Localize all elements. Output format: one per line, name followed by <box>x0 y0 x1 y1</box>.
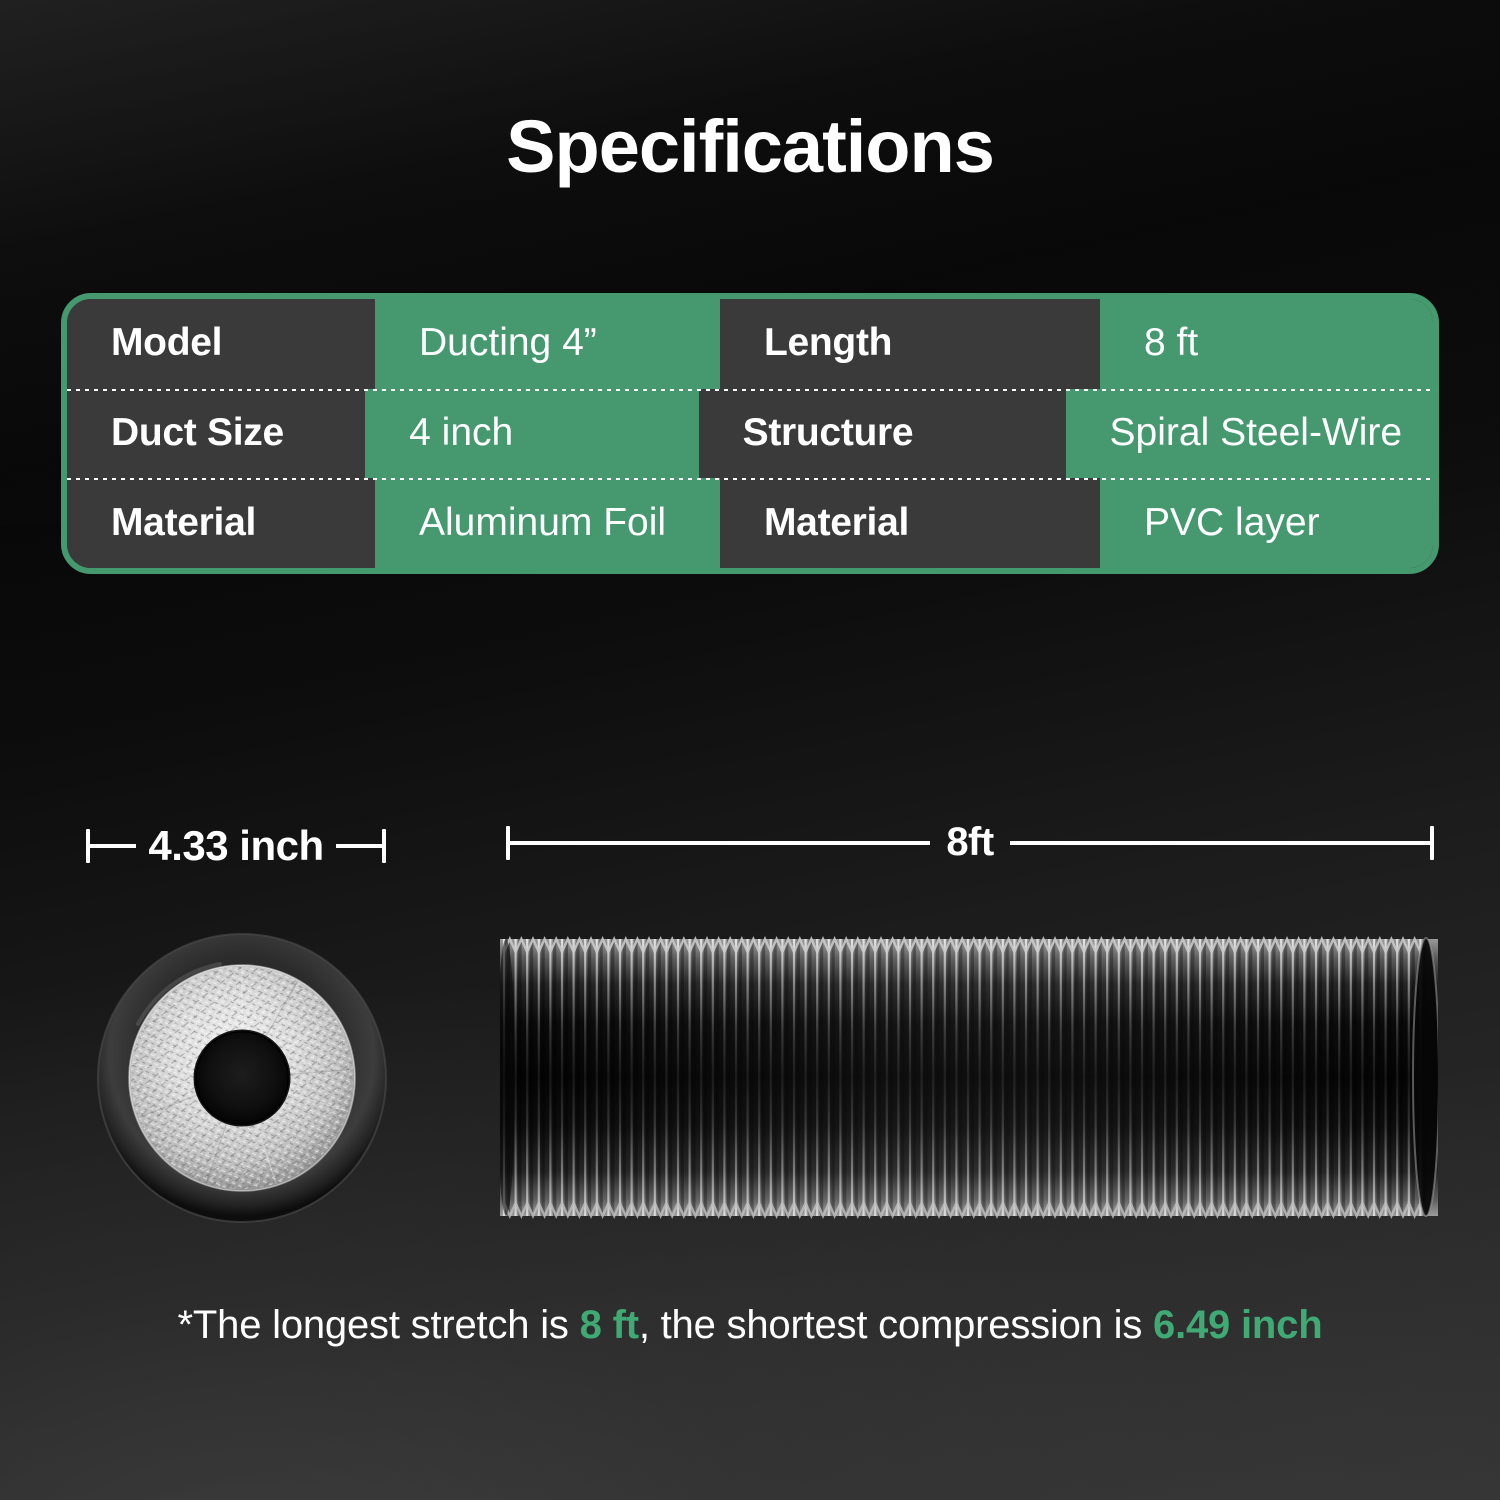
duct-cross-section-image <box>92 928 392 1228</box>
footnote-part1: *The longest stretch is <box>178 1303 580 1347</box>
length-label: 8ft <box>930 820 1009 865</box>
spec-key-length: Length <box>720 299 1100 389</box>
diameter-label: 4.33 inch <box>136 822 335 870</box>
footnote: *The longest stretch is 8 ft, the shorte… <box>0 1303 1500 1348</box>
spec-value-material-foil: Aluminum Foil <box>375 478 720 568</box>
footnote-highlight-compression: 6.49 inch <box>1153 1303 1322 1347</box>
dimension-bar-icon <box>1010 841 1430 845</box>
specifications-table: Model Ducting 4” Length 8 ft Duct Size 4… <box>61 293 1439 574</box>
spec-key-model: Model <box>67 299 375 389</box>
duct-cross-section-icon <box>92 928 392 1228</box>
dimension-end-cap-icon <box>1430 826 1434 860</box>
page-title: Specifications <box>0 104 1500 189</box>
dimension-bar-icon <box>336 844 382 848</box>
dimension-bar-icon <box>90 844 136 848</box>
diameter-dimension-line: 4.33 inch <box>86 822 386 870</box>
table-row: Model Ducting 4” Length 8 ft <box>67 299 1433 389</box>
length-dimension-line: 8ft <box>506 820 1434 865</box>
product-spec-page: Specifications Model Ducting 4” Length 8… <box>0 0 1500 1500</box>
spec-key-structure: Structure <box>699 389 1066 479</box>
spec-value-model: Ducting 4” <box>375 299 720 389</box>
spec-value-duct-size: 4 inch <box>365 389 698 479</box>
spec-key-material-pvc: Material <box>720 478 1100 568</box>
dimension-bar-icon <box>510 841 930 845</box>
spec-key-duct-size: Duct Size <box>67 389 365 479</box>
spec-key-material-foil: Material <box>67 478 375 568</box>
dimension-end-cap-icon <box>382 829 386 863</box>
table-row: Material Aluminum Foil Material PVC laye… <box>67 478 1433 568</box>
spec-value-material-pvc: PVC layer <box>1100 478 1433 568</box>
spec-value-structure: Spiral Steel-Wire <box>1066 389 1433 479</box>
spec-value-length: 8 ft <box>1100 299 1433 389</box>
table-row: Duct Size 4 inch Structure Spiral Steel-… <box>67 389 1433 479</box>
duct-hose-image <box>500 925 1438 1230</box>
corrugated-duct-icon <box>500 925 1438 1230</box>
footnote-part2: , the shortest compression is <box>639 1303 1153 1347</box>
footnote-highlight-stretch: 8 ft <box>580 1303 639 1347</box>
